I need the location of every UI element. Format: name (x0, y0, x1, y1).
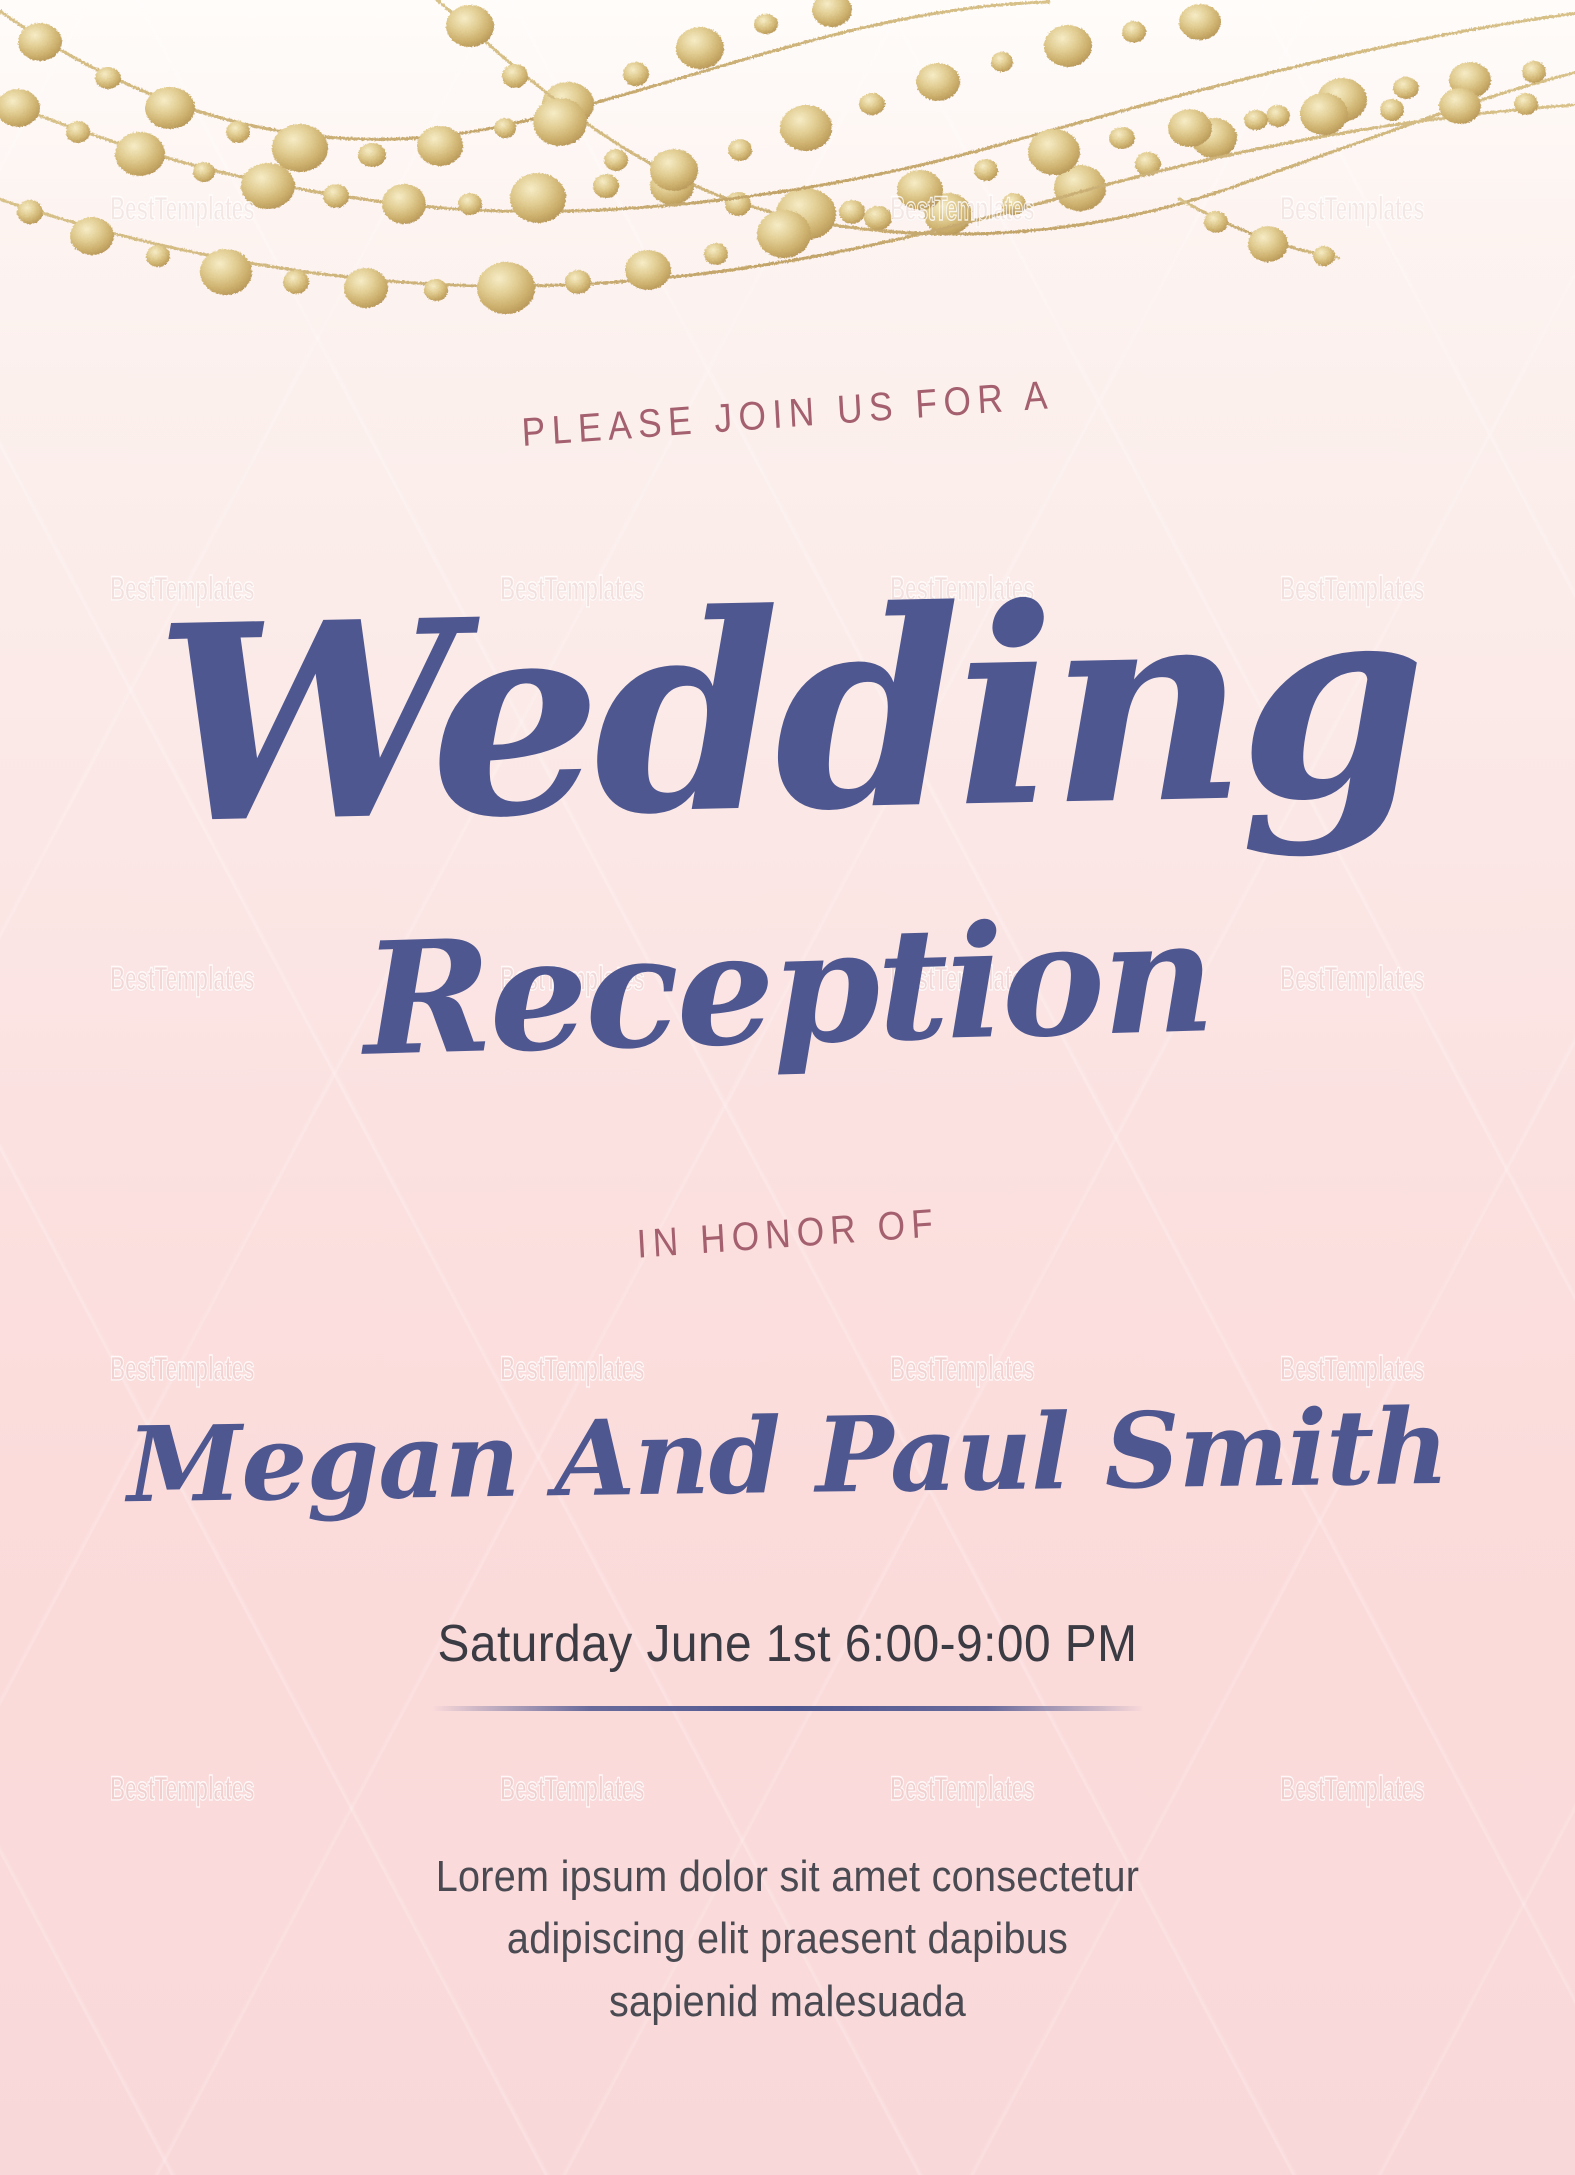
invitation-content: PLEASE JOIN US FOR A Wedding Reception I… (0, 0, 1575, 2175)
title-wedding: Wedding (154, 564, 1422, 860)
divider-rule (432, 1706, 1144, 1711)
intro-line: PLEASE JOIN US FOR A (520, 373, 1054, 456)
title-line-2-wrapper: Reception (0, 878, 1575, 1100)
honoree-label: IN HONOR OF (635, 1201, 939, 1267)
event-datetime: Saturday June 1st 6:00-9:00 PM (63, 1614, 1512, 1674)
body-line: adipiscing elit praesent dapibus (79, 1908, 1497, 1970)
body-line: sapienid malesuada (79, 1971, 1497, 2033)
title-line-1-wrapper: Wedding (0, 544, 1575, 887)
intro-line-wrapper: PLEASE JOIN US FOR A (0, 392, 1575, 437)
couple-names: Megan And Paul Smith (126, 1395, 1448, 1517)
body-copy: Lorem ipsum dolor sit amet consectetur a… (79, 1846, 1497, 2033)
couple-names-wrapper: Megan And Paul Smith (0, 1387, 1575, 1528)
body-line: Lorem ipsum dolor sit amet consectetur (79, 1846, 1497, 1908)
wedding-invitation-card: BestTemplates BestTemplates BestTemplate… (0, 0, 1575, 2175)
title-reception: Reception (361, 898, 1213, 1077)
honoree-label-wrapper: IN HONOR OF (0, 1212, 1575, 1257)
